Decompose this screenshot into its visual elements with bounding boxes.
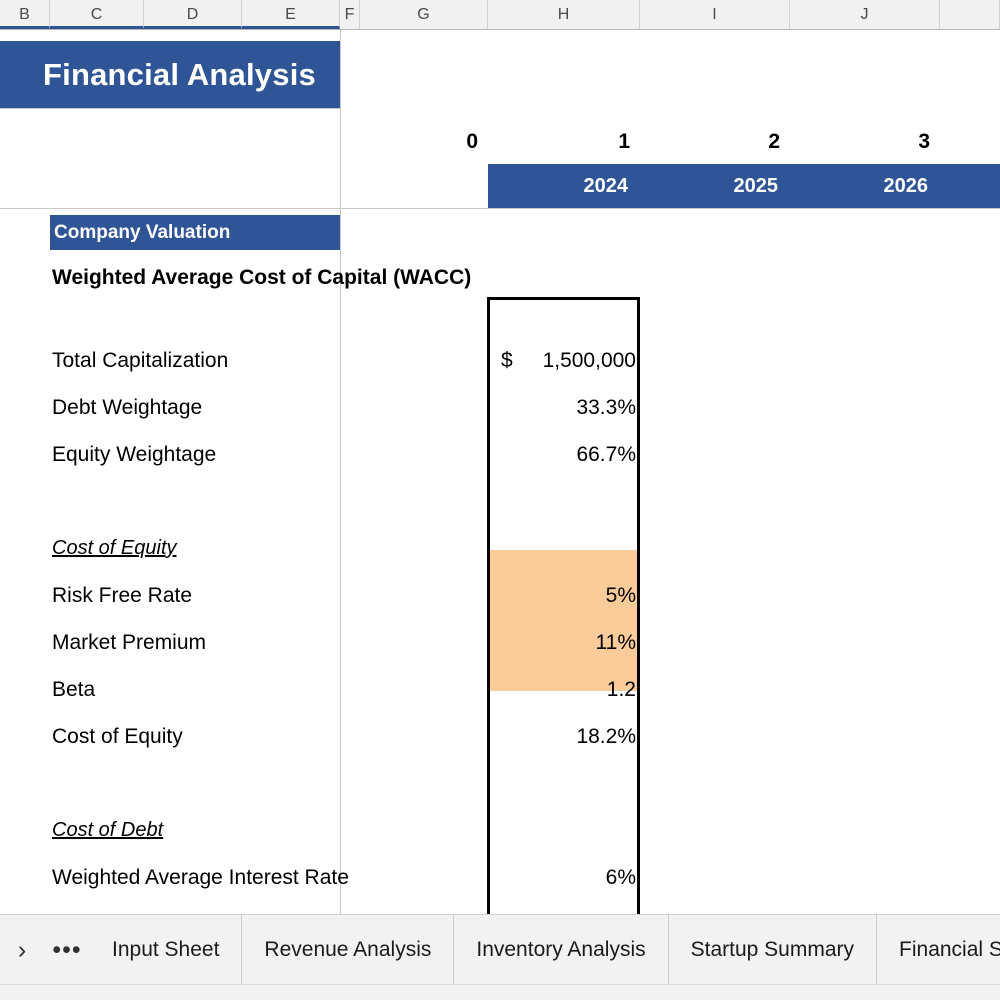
row-value-tax-rate-corporate-tax[interactable]: 21% [489,901,639,914]
row-label-debt-weightage: Debt Weightage [52,384,202,431]
year-header-2024: 2024 [488,164,640,208]
status-bar [0,984,1000,1000]
column-header-strip: BCDEFGHIJ [0,0,1000,30]
year-header-band: 202420252026 [488,164,1000,208]
gridline-horizontal-year [0,208,1000,209]
row-label-beta: Beta [52,666,95,713]
period-number-2: 2 [640,120,790,164]
section-banner-company-valuation: Company Valuation [50,215,340,250]
column-header-blank[interactable] [940,0,1000,29]
row-label-risk-free-rate: Risk Free Rate [52,572,192,619]
sheet-tab-strip: ›•••Input SheetRevenue AnalysisInventory… [0,915,1000,985]
row-value-debt-weightage[interactable]: 33.3% [489,384,639,431]
row-label-tax-rate-corporate-tax: Tax Rate (Corporate Tax) [52,901,286,914]
row-label-weighted-average-interest-rate: Weighted Average Interest Rate [52,854,349,901]
column-header-c[interactable]: C [50,0,144,29]
period-number-3: 3 [790,120,940,164]
spreadsheet-grid[interactable]: Financial Analysis 0123 202420252026 Com… [0,30,1000,914]
row-value-risk-free-rate[interactable]: 5% [489,572,639,619]
period-number-1: 1 [488,120,640,164]
column-header-i[interactable]: I [640,0,790,29]
row-label-cost-of-equity: Cost of Equity [52,525,177,572]
year-header-2025: 2025 [640,164,790,208]
spreadsheet-app: BCDEFGHIJ Financial Analysis 0123 202420… [0,0,1000,1000]
gridline-horizontal-title [0,108,340,109]
sheet-title-banner: Financial Analysis [0,41,340,108]
column-header-h[interactable]: H [488,0,640,29]
column-header-j[interactable]: J [790,0,940,29]
year-header-2026: 2026 [790,164,940,208]
sheet-tab-bar: ›•••Input SheetRevenue AnalysisInventory… [0,914,1000,1000]
sheet-tab-revenue-analysis[interactable]: Revenue Analysis [242,915,454,985]
currency-symbol: $ [489,337,513,384]
sheet-tab-input-sheet[interactable]: Input Sheet [90,915,242,985]
row-label-weighted-average-cost-of-capital-wacc: Weighted Average Cost of Capital (WACC) [52,254,471,301]
column-header-d[interactable]: D [144,0,242,29]
row-value-market-premium[interactable]: 11% [489,619,639,666]
row-label-total-capitalization: Total Capitalization [52,337,228,384]
period-number-0: 0 [360,120,488,164]
row-label-equity-weightage: Equity Weightage [52,431,216,478]
sheet-tab-inventory-analysis[interactable]: Inventory Analysis [454,915,668,985]
period-number-row: 0123 [0,120,1000,164]
row-label-market-premium: Market Premium [52,619,206,666]
sheet-tab-financial-st[interactable]: Financial St [877,915,1000,985]
column-header-g[interactable]: G [360,0,488,29]
row-value-beta[interactable]: 1.2 [489,666,639,713]
section-banner-label: Company Valuation [50,222,230,244]
row-label-cost-of-debt: Cost of Debt [52,807,163,854]
row-value-cost-of-equity[interactable]: 18.2% [489,713,639,760]
chevron-right-icon[interactable]: › [0,915,44,985]
row-value-total-capitalization[interactable]: $1,500,000 [489,337,639,384]
column-header-b[interactable]: B [0,0,50,29]
sheet-tab-startup-summary[interactable]: Startup Summary [669,915,877,985]
column-header-e[interactable]: E [242,0,340,29]
more-sheets-icon[interactable]: ••• [44,915,90,985]
column-header-f[interactable]: F [340,0,360,29]
page-title: Financial Analysis [0,57,316,93]
row-value-equity-weightage[interactable]: 66.7% [489,431,639,478]
row-label-cost-of-equity: Cost of Equity [52,713,183,760]
row-value-weighted-average-interest-rate[interactable]: 6% [489,854,639,901]
